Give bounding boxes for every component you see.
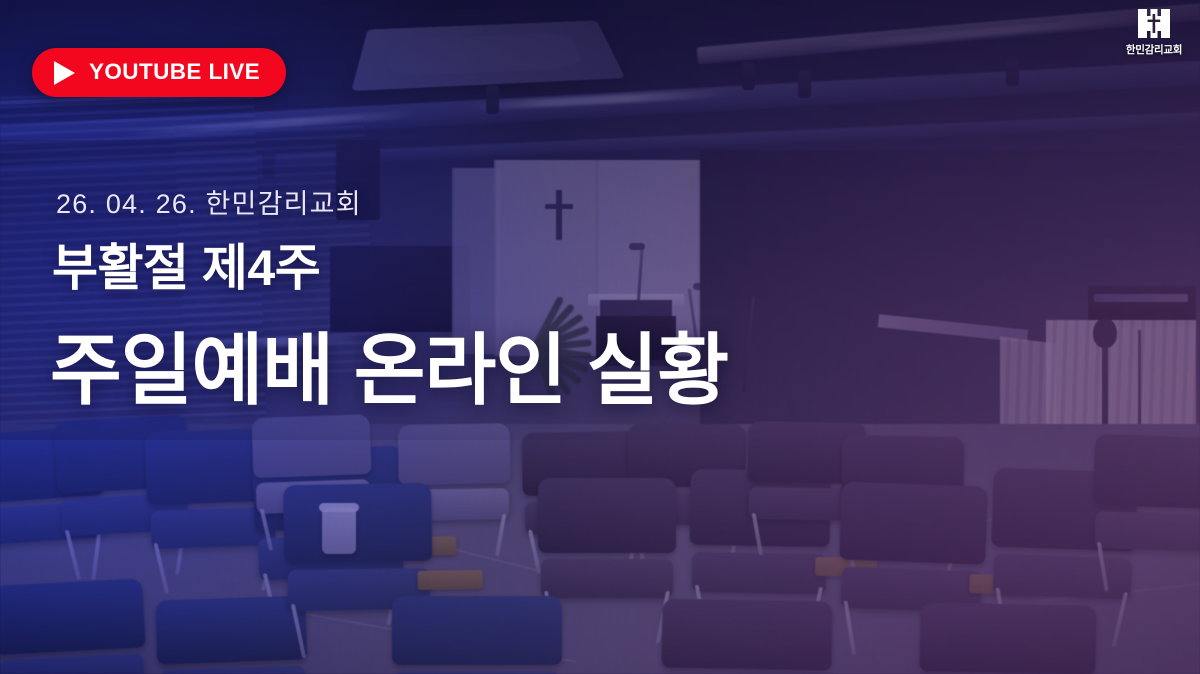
service-subtitle: 부활절 제4주 bbox=[52, 240, 320, 298]
church-logo-name: 한민감리교회 bbox=[1126, 42, 1182, 57]
play-icon bbox=[54, 61, 75, 85]
church-cross-emblem-icon bbox=[1136, 8, 1172, 39]
date-and-church-line: 26. 04. 26. 한민감리교회 bbox=[56, 182, 362, 221]
service-main-title: 주일예배 온라인 실황 bbox=[50, 326, 728, 416]
overlay-layer: YOUTUBE LIVE 26. 04. 26. 한민감리교회 부활절 제4주 … bbox=[0, 0, 1200, 674]
church-logo: 한민감리교회 bbox=[1118, 8, 1190, 57]
youtube-live-label: YOUTUBE LIVE bbox=[89, 61, 260, 84]
live-stream-cover: YOUTUBE LIVE 26. 04. 26. 한민감리교회 부활절 제4주 … bbox=[0, 0, 1200, 674]
youtube-live-badge[interactable]: YOUTUBE LIVE bbox=[32, 48, 286, 97]
